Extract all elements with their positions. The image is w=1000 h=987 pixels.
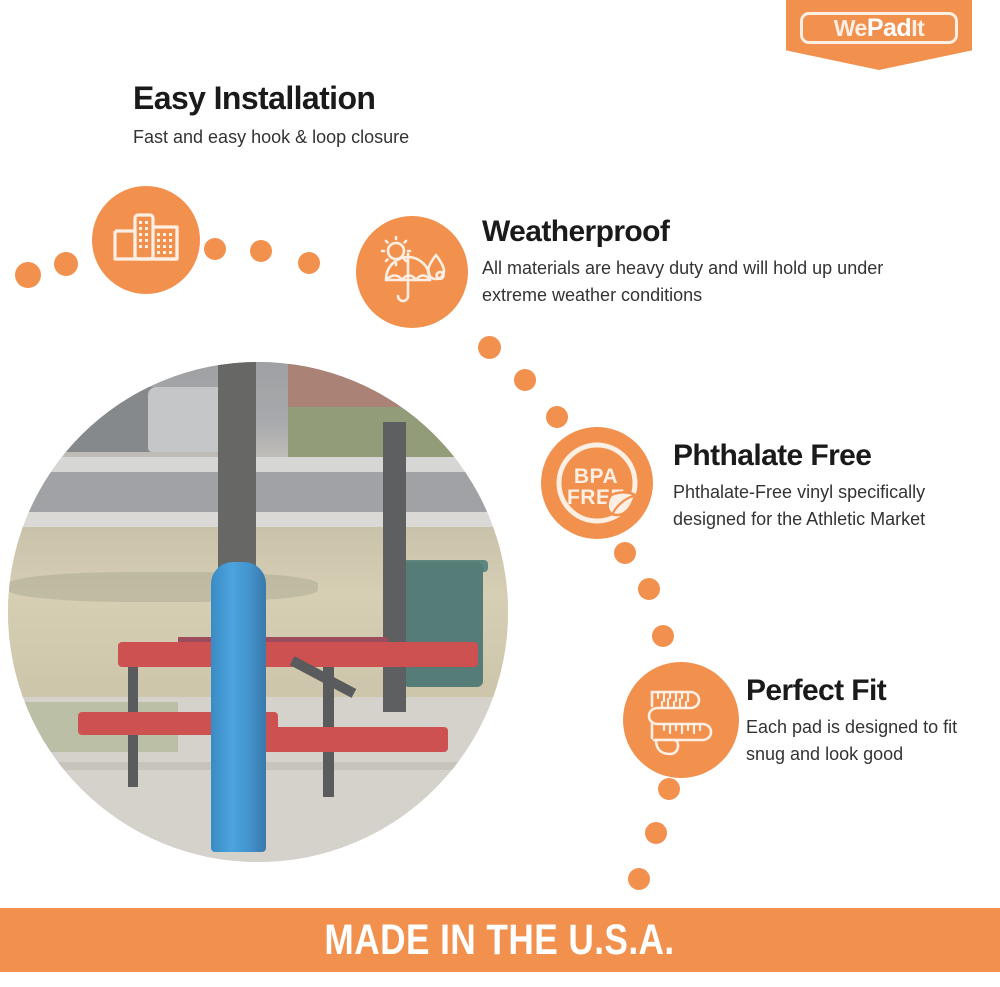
sun-umbrella-raindrop-icon xyxy=(356,216,468,328)
trail-dot xyxy=(652,625,674,647)
feature-heading: Perfect Fit xyxy=(746,672,996,710)
measuring-tape-icon xyxy=(623,662,739,778)
feature-description: Each pad is designed to fit snug and loo… xyxy=(746,714,996,768)
buildings-icon xyxy=(92,186,200,294)
trail-dot xyxy=(204,238,226,260)
feature-description: Fast and easy hook & loop closure xyxy=(133,124,409,150)
trail-dot xyxy=(546,406,568,428)
product-photo-padded-pole xyxy=(8,362,508,862)
feature-description: Phthalate-Free vinyl specifically design… xyxy=(673,479,993,533)
logo-inner-frame: WePadIt xyxy=(800,12,958,44)
bpa-icon-line1: BPA xyxy=(574,465,618,488)
trail-dot xyxy=(298,252,320,274)
trail-dot xyxy=(478,336,501,359)
feature-block-perfect-fit: Perfect Fit Each pad is designed to fit … xyxy=(746,672,996,768)
trail-dot xyxy=(15,262,41,288)
trail-dot xyxy=(614,542,636,564)
feature-block-easy-installation: Easy Installation Fast and easy hook & l… xyxy=(133,78,409,150)
logo-wordmark: WePadIt xyxy=(834,17,925,40)
feature-heading: Easy Installation xyxy=(133,78,409,118)
trail-dot xyxy=(658,778,680,800)
trail-dot xyxy=(250,240,272,262)
logo-text-we: We xyxy=(834,15,867,41)
made-in-usa-banner: MADE IN THE U.S.A. xyxy=(0,908,1000,972)
infographic-page: WePadIt xyxy=(0,0,1000,987)
wepadit-logo-badge: WePadIt xyxy=(786,0,972,70)
trail-dot xyxy=(645,822,667,844)
made-in-usa-text: MADE IN THE U.S.A. xyxy=(325,919,675,962)
feature-description: All materials are heavy duty and will ho… xyxy=(482,255,912,309)
feature-heading: Phthalate Free xyxy=(673,437,993,475)
logo-text-it: It xyxy=(911,15,924,41)
trail-dot xyxy=(628,868,650,890)
trail-dot xyxy=(54,252,78,276)
photo-overlay-wash xyxy=(8,362,508,862)
bpa-free-leaf-icon: BPA FREE xyxy=(541,427,653,539)
feature-heading: Weatherproof xyxy=(482,213,912,251)
feature-block-phthalate-free: Phthalate Free Phthalate-Free vinyl spec… xyxy=(673,437,993,533)
trail-dot xyxy=(514,369,536,391)
photo-scene xyxy=(8,362,508,862)
logo-text-pad: Pad xyxy=(867,14,911,42)
trail-dot xyxy=(638,578,660,600)
feature-block-weatherproof: Weatherproof All materials are heavy dut… xyxy=(482,213,912,309)
